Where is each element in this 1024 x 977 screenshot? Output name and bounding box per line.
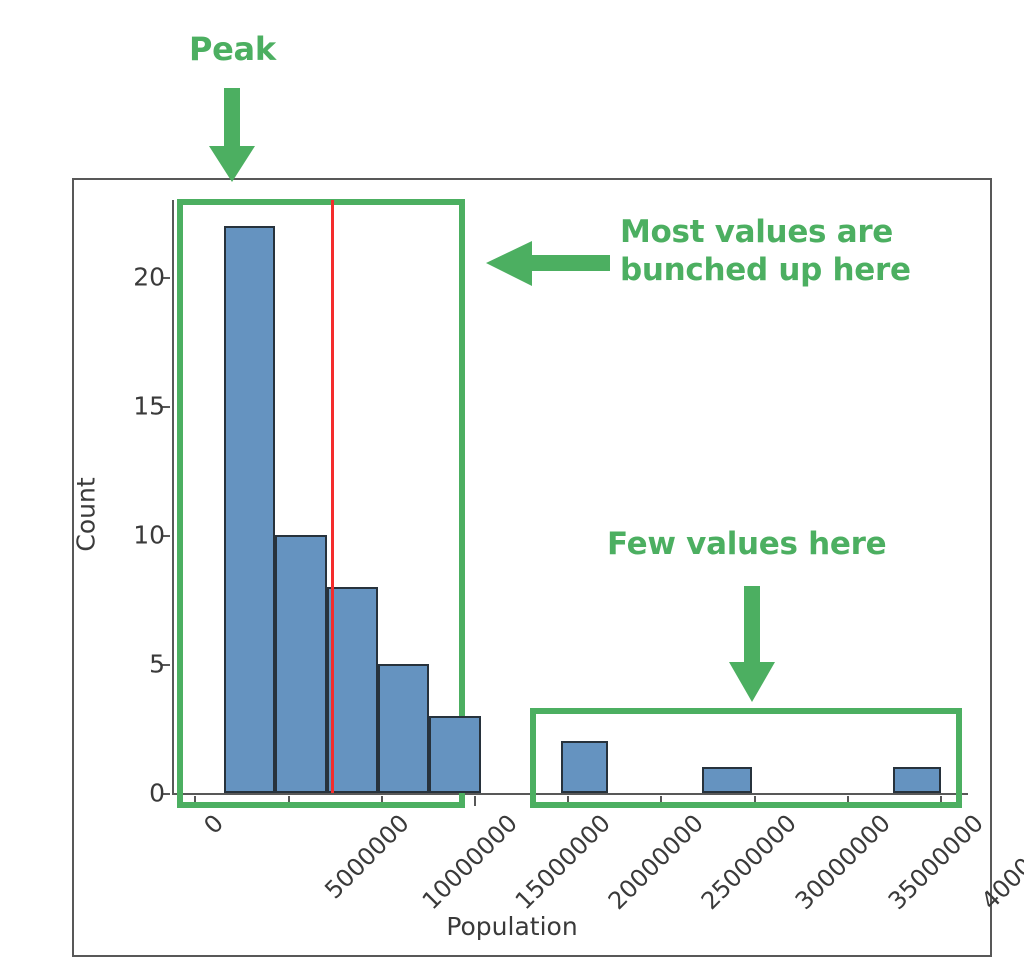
histogram-bar (327, 587, 378, 793)
x-tick-mark (474, 796, 476, 806)
y-tick-label: 0 (149, 779, 165, 808)
arrow-down-icon (725, 586, 779, 708)
histogram-bar (702, 767, 751, 793)
x-tick-mark (288, 796, 290, 806)
histogram-bar (224, 226, 275, 793)
y-tick-label: 10 (133, 521, 165, 550)
histogram-bar (893, 767, 941, 793)
y-tick-label: 15 (133, 392, 165, 421)
histogram-bar (561, 741, 609, 793)
y-axis-title: Count (72, 477, 101, 551)
y-tick-label: 20 (133, 263, 165, 292)
arrow-down-icon (205, 88, 259, 188)
x-tick-mark (660, 796, 662, 806)
x-tick-mark (940, 796, 942, 806)
histogram-bar (275, 535, 326, 793)
x-tick-mark (847, 796, 849, 806)
x-axis-title: Population (0, 912, 1024, 941)
mean-reference-line (331, 200, 334, 793)
histogram-bar (378, 664, 429, 793)
x-tick-mark (567, 796, 569, 806)
annotation-bunched-label: Most values are bunched up here (620, 214, 911, 290)
x-tick-mark (754, 796, 756, 806)
y-tick-label: 5 (149, 650, 165, 679)
x-tick-mark (381, 796, 383, 806)
annotation-few-label: Few values here (607, 526, 886, 564)
y-axis-spine (172, 200, 174, 795)
x-axis-spine (172, 793, 968, 795)
annotation-peak-label: Peak (189, 30, 276, 69)
arrow-left-icon (484, 240, 610, 292)
figure-canvas: 05101520 0500000010000000150000002000000… (0, 0, 1024, 977)
x-tick-mark (194, 796, 196, 806)
histogram-bar (429, 716, 480, 793)
